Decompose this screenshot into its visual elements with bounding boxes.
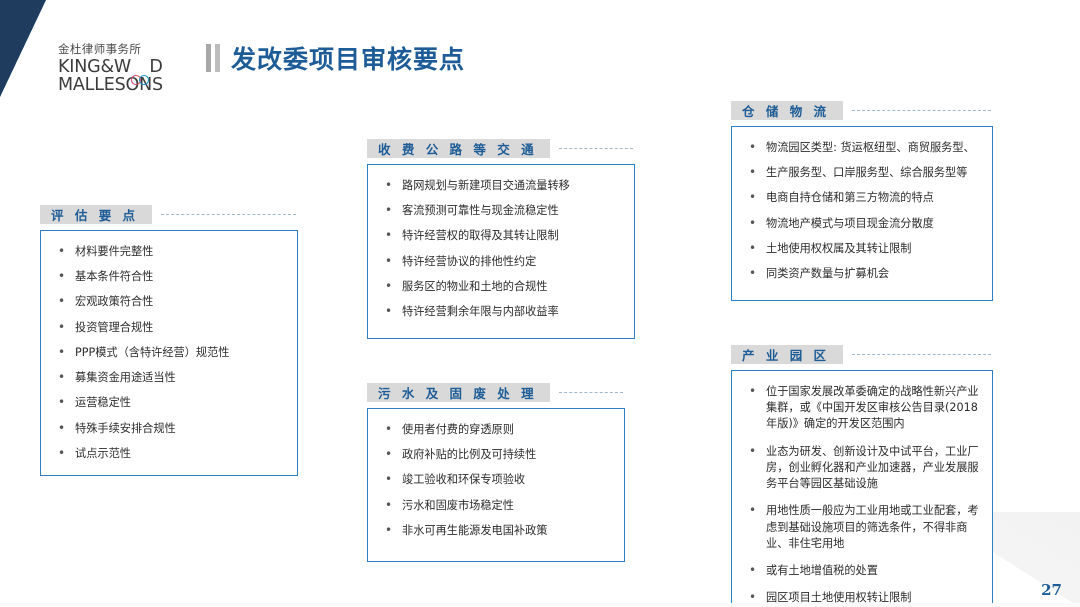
list-item: PPP模式（含特许经营）规范性 bbox=[55, 345, 285, 361]
footer-rule bbox=[0, 603, 1080, 607]
list-item: 电商自持仓储和第三方物流的特点 bbox=[746, 190, 980, 206]
panel-toll-road-transport: 收 费 公 路 等 交 通 路网规划与新建项目交通流量转移 客流预测可靠性与现金… bbox=[367, 139, 635, 339]
list-item: 非水可再生能源发电国补政策 bbox=[382, 523, 612, 539]
list-item: 募集资金用途适当性 bbox=[55, 370, 285, 386]
firm-logo: 金杜律师事务所 KING&WD MALLESONS bbox=[58, 44, 188, 95]
list-item: 土地使用权权属及其转让限制 bbox=[746, 241, 980, 257]
panel-evaluation-points: 评 估 要 点 材料要件完整性 基本条件符合性 宏观政策符合性 投资管理合规性 … bbox=[40, 205, 298, 476]
list-item: 生产服务型、口岸服务型、综合服务型等 bbox=[746, 165, 980, 181]
list-item: 业态为研发、创新设计及中试平台，工业厂房，创业孵化器和产业加速器，产业发展服务平… bbox=[746, 444, 980, 493]
panel-title-toll-road-transport: 收 费 公 路 等 交 通 bbox=[367, 139, 550, 158]
list-evaluation-points: 材料要件完整性 基本条件符合性 宏观政策符合性 投资管理合规性 PPP模式（含特… bbox=[41, 231, 297, 475]
panel-body-industrial-park: 位于国家发展改革委确定的战略性新兴产业集群，或《中国开发区审核公告目录(2018… bbox=[731, 370, 993, 607]
panel-dashed-rule bbox=[852, 110, 991, 111]
logo-ring-blue-icon bbox=[139, 75, 149, 85]
list-item: 用地性质一般应为工业用地或工业配套，考虑到基础设施项目的筛选条件，不得非商业、非… bbox=[746, 503, 980, 552]
list-toll-road-transport: 路网规划与新建项目交通流量转移 客流预测可靠性与现金流稳定性 特许经营权的取得及… bbox=[368, 165, 634, 333]
panel-header-toll-road-transport: 收 费 公 路 等 交 通 bbox=[367, 139, 635, 158]
panel-warehouse-logistics: 仓 储 物 流 物流园区类型: 货运枢纽型、商贸服务型、 生产服务型、口岸服务型… bbox=[731, 101, 993, 301]
panel-body-warehouse-logistics: 物流园区类型: 货运枢纽型、商贸服务型、 生产服务型、口岸服务型、综合服务型等 … bbox=[731, 126, 993, 301]
panel-dashed-rule bbox=[852, 354, 991, 355]
list-item: 运营稳定性 bbox=[55, 395, 285, 411]
list-item: 客流预测可靠性与现金流稳定性 bbox=[382, 203, 622, 219]
list-item: 试点示范性 bbox=[55, 446, 285, 462]
panel-dashed-rule bbox=[559, 148, 633, 149]
list-item: 材料要件完整性 bbox=[55, 244, 285, 260]
panel-body-evaluation-points: 材料要件完整性 基本条件符合性 宏观政策符合性 投资管理合规性 PPP模式（含特… bbox=[40, 230, 298, 476]
logo-kingwood-text: KING&W bbox=[58, 57, 131, 77]
panel-sewage-solid-waste: 污 水 及 固 废 处 理 使用者付费的穿透原则 政府补贴的比例及可持续性 竣工… bbox=[367, 383, 625, 562]
title-bars-icon bbox=[206, 44, 220, 72]
list-item: 投资管理合规性 bbox=[55, 320, 285, 336]
list-item: 政府补贴的比例及可持续性 bbox=[382, 447, 612, 463]
panel-title-warehouse-logistics: 仓 储 物 流 bbox=[731, 101, 843, 120]
panel-body-sewage-solid-waste: 使用者付费的穿透原则 政府补贴的比例及可持续性 竣工验收和环保专项验收 污水和固… bbox=[367, 408, 625, 562]
logo-chinese-name: 金杜律师事务所 bbox=[58, 44, 188, 56]
panel-industrial-park: 产 业 园 区 位于国家发展改革委确定的战略性新兴产业集群，或《中国开发区审核公… bbox=[731, 345, 993, 607]
panel-title-industrial-park: 产 业 园 区 bbox=[731, 345, 843, 364]
panel-header-sewage-solid-waste: 污 水 及 固 废 处 理 bbox=[367, 383, 625, 402]
list-item: 同类资产数量与扩募机会 bbox=[746, 266, 980, 282]
list-industrial-park: 位于国家发展改革委确定的战略性新兴产业集群，或《中国开发区审核公告目录(2018… bbox=[732, 371, 992, 607]
list-item: 污水和固废市场稳定性 bbox=[382, 498, 612, 514]
panel-header-warehouse-logistics: 仓 储 物 流 bbox=[731, 101, 993, 120]
logo-english-line-1: KING&WD bbox=[58, 59, 188, 77]
list-item: 特许经营协议的排他性约定 bbox=[382, 254, 622, 270]
logo-d-text: D bbox=[149, 57, 162, 77]
list-item: 竣工验收和环保专项验收 bbox=[382, 472, 612, 488]
logo-english-line-2: MALLESONS bbox=[58, 77, 188, 95]
list-item: 基本条件符合性 bbox=[55, 269, 285, 285]
list-item: 物流园区类型: 货运枢纽型、商贸服务型、 bbox=[746, 140, 980, 156]
list-warehouse-logistics: 物流园区类型: 货运枢纽型、商贸服务型、 生产服务型、口岸服务型、综合服务型等 … bbox=[732, 127, 992, 295]
page-title: 发改委项目审核要点 bbox=[231, 40, 465, 76]
list-item: 服务区的物业和土地的合规性 bbox=[382, 279, 622, 295]
panel-body-toll-road-transport: 路网规划与新建项目交通流量转移 客流预测可靠性与现金流稳定性 特许经营权的取得及… bbox=[367, 164, 635, 339]
list-item: 路网规划与新建项目交通流量转移 bbox=[382, 178, 622, 194]
list-item: 使用者付费的穿透原则 bbox=[382, 422, 612, 438]
panel-header-industrial-park: 产 业 园 区 bbox=[731, 345, 993, 364]
list-item: 物流地产模式与项目现金流分散度 bbox=[746, 216, 980, 232]
list-item: 特许经营权的取得及其转让限制 bbox=[382, 228, 622, 244]
page-number: 27 bbox=[1041, 581, 1062, 599]
slide-canvas: 金杜律师事务所 KING&WD MALLESONS 发改委项目审核要点 评 估 … bbox=[0, 0, 1080, 607]
panel-header-evaluation-points: 评 估 要 点 bbox=[40, 205, 298, 224]
panel-dashed-rule bbox=[161, 214, 296, 215]
panel-title-sewage-solid-waste: 污 水 及 固 废 处 理 bbox=[367, 383, 550, 402]
list-item: 或有土地增值税的处置 bbox=[746, 563, 980, 579]
corner-accent-navy bbox=[0, 0, 46, 97]
list-item: 特殊手续安排合规性 bbox=[55, 421, 285, 437]
panel-title-evaluation-points: 评 估 要 点 bbox=[40, 205, 152, 224]
page-title-block: 发改委项目审核要点 bbox=[206, 40, 465, 76]
list-item: 位于国家发展改革委确定的战略性新兴产业集群，或《中国开发区审核公告目录(2018… bbox=[746, 384, 980, 433]
list-item: 特许经营剩余年限与内部收益率 bbox=[382, 304, 622, 320]
list-item: 宏观政策符合性 bbox=[55, 294, 285, 310]
panel-dashed-rule bbox=[559, 392, 623, 393]
list-sewage-solid-waste: 使用者付费的穿透原则 政府补贴的比例及可持续性 竣工验收和环保专项验收 污水和固… bbox=[368, 409, 624, 552]
